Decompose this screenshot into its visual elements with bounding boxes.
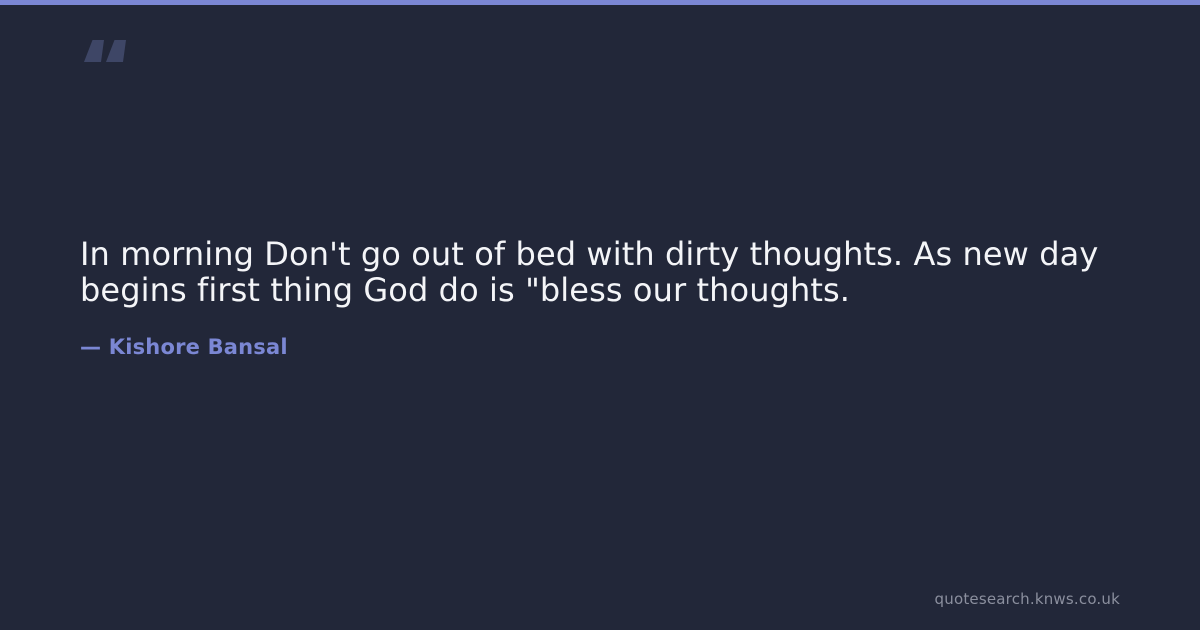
site-watermark: quotesearch.knws.co.uk bbox=[935, 590, 1120, 608]
quote-text: In morning Don't go out of bed with dirt… bbox=[80, 236, 1120, 308]
attribution-dash: — bbox=[80, 335, 101, 359]
double-quote-open-icon bbox=[78, 18, 148, 88]
quote-line-1: In morning Don't go out of bed with dirt… bbox=[80, 235, 1098, 273]
quote-card: In morning Don't go out of bed with dirt… bbox=[0, 0, 1200, 630]
quote-line-2: begins first thing God do is "bless our … bbox=[80, 271, 850, 309]
quote-content: In morning Don't go out of bed with dirt… bbox=[80, 236, 1120, 360]
author-name: Kishore Bansal bbox=[109, 335, 288, 359]
top-accent-bar bbox=[0, 0, 1200, 5]
quote-attribution: — Kishore Bansal bbox=[80, 334, 1120, 360]
